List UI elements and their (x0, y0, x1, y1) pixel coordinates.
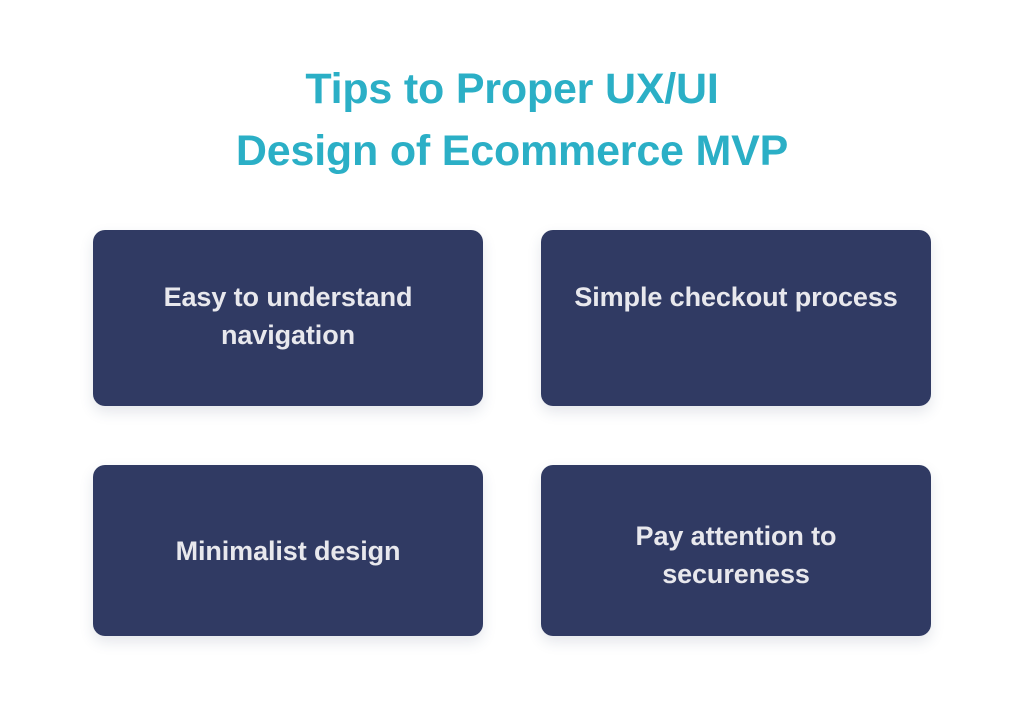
tips-card-grid: Easy to understand navigation Simple che… (93, 230, 931, 636)
page-title-line-2: Design of Ecommerce MVP (0, 120, 1024, 182)
tip-card-easy-to-understand-navigation[interactable]: Easy to understand navigation (93, 230, 483, 406)
tip-card-minimalist-design[interactable]: Minimalist design (93, 465, 483, 636)
page-title: Tips to Proper UX/UI Design of Ecommerce… (0, 58, 1024, 182)
slide-canvas: Tips to Proper UX/UI Design of Ecommerce… (0, 0, 1024, 720)
tip-card-label: Pay attention to secureness (567, 517, 905, 593)
tip-card-label: Easy to understand navigation (119, 278, 457, 354)
page-title-line-1: Tips to Proper UX/UI (0, 58, 1024, 120)
tip-card-simple-checkout-process[interactable]: Simple checkout process (541, 230, 931, 406)
tip-card-label: Simple checkout process (574, 278, 897, 316)
tip-card-pay-attention-to-secureness[interactable]: Pay attention to secureness (541, 465, 931, 636)
tip-card-label: Minimalist design (176, 532, 401, 570)
